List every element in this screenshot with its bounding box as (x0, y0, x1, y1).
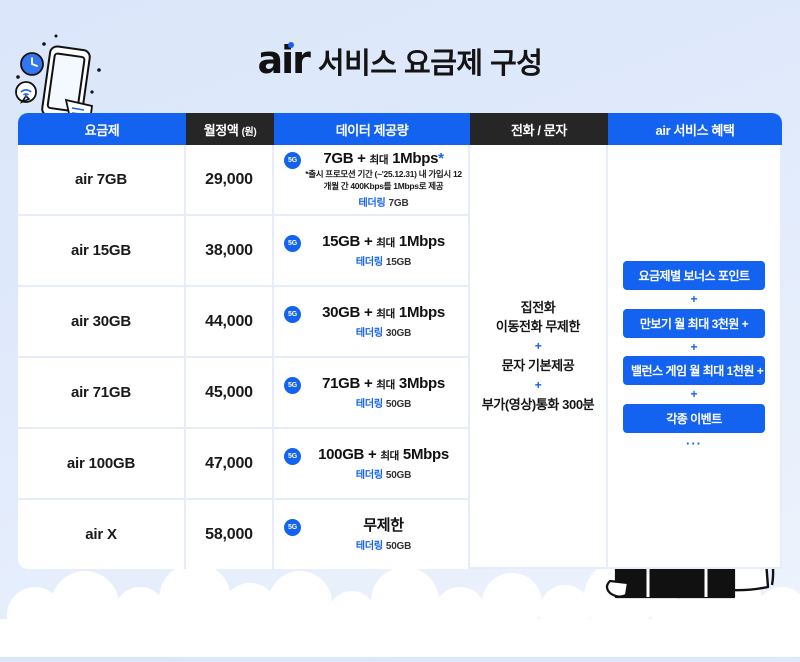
voice-line-3: 문자 기본제공 (471, 356, 605, 376)
column-header-plan: 요금제 (18, 113, 186, 145)
benefit-item-events[interactable]: 각종 이벤트 (623, 404, 765, 433)
data-speed-label: 최대 (376, 379, 395, 391)
data-amount: 7GB (323, 150, 353, 167)
column-header-benefits: air 서비스 혜택 (608, 113, 782, 145)
table-row: air 7GB 29,000 5G 7GB + 최대 1Mbps* *출시 프로… (18, 145, 782, 216)
air-logo-dot (288, 42, 294, 48)
data-speed: 1Mbps (392, 150, 438, 167)
tethering-label: 테더링 (356, 399, 383, 410)
badge-5g-icon: 5G (284, 235, 301, 252)
benefit-item-bonus-point[interactable]: 요금제별 보너스 포인트 (623, 261, 765, 290)
column-header-price-unit: (원) (242, 127, 257, 138)
badge-5g-icon: 5G (284, 448, 301, 465)
badge-5g-icon: 5G (284, 519, 301, 536)
data-speed-label: 최대 (376, 237, 395, 249)
badge-5g-icon: 5G (284, 152, 301, 169)
data-speed-label: 최대 (380, 450, 399, 462)
data-plus: + (364, 233, 372, 250)
tethering-label: 테더링 (356, 328, 383, 339)
benefits-cell: 요금제별 보너스 포인트 + 만보기 월 최대 3천원 + + 밸런스 게임 월… (608, 145, 782, 569)
plan-name: air X (18, 500, 186, 569)
benefit-item-balance-game[interactable]: 밸런스 게임 월 최대 1천원 + (623, 356, 765, 385)
benefit-more-ellipsis: ··· (686, 436, 702, 451)
tethering-value: 50GB (386, 470, 411, 481)
pricing-table: 요금제 월정액 (원) 데이터 제공량 전화 / 문자 air 서비스 혜택 a… (18, 113, 782, 569)
voice-line-1: 집전화 (471, 298, 605, 318)
plan-data: 5G 무제한 테더링50GB (274, 500, 470, 569)
plan-data: 5G 100GB + 최대 5Mbps 테더링50GB (274, 429, 470, 500)
data-speed: 5Mbps (403, 446, 449, 463)
voice-line-2: 이동전화 무제한 (471, 317, 605, 337)
plan-price: 47,000 (186, 429, 274, 500)
data-amount: 15GB (322, 233, 360, 250)
column-header-price-label: 월정액 (204, 123, 239, 138)
data-note: *출시 프로모션 기간 (~'25.12.31) 내 가입시 12개월 간 40… (305, 169, 462, 192)
voice-plus-1: + (471, 337, 605, 356)
plan-data: 5G 30GB + 최대 1Mbps 테더링30GB (274, 287, 470, 358)
air-logo-text: air (258, 38, 309, 82)
data-speed: 3Mbps (399, 375, 445, 392)
data-speed-label: 최대 (370, 154, 389, 166)
data-amount: 무제한 (363, 517, 404, 534)
plan-price: 58,000 (186, 500, 274, 569)
column-header-price: 월정액 (원) (186, 113, 274, 145)
plan-price: 38,000 (186, 216, 274, 287)
benefit-item-pedometer[interactable]: 만보기 월 최대 3천원 + (623, 309, 765, 338)
badge-5g-icon: 5G (284, 377, 301, 394)
plan-name: air 7GB (18, 145, 186, 216)
benefit-plus-1: + (690, 291, 697, 308)
tethering-value: 50GB (386, 399, 411, 410)
plan-data: 5G 7GB + 최대 1Mbps* *출시 프로모션 기간 (~'25.12.… (274, 145, 470, 216)
data-plus: + (368, 446, 376, 463)
plan-price: 44,000 (186, 287, 274, 358)
data-speed-label: 최대 (376, 308, 395, 320)
tethering-label: 테더링 (356, 470, 383, 481)
data-asterisk: * (438, 150, 444, 167)
tethering-label: 테더링 (356, 257, 383, 268)
data-plus: + (364, 375, 372, 392)
badge-5g-icon: 5G (284, 306, 301, 323)
voice-plus-2: + (471, 376, 605, 395)
data-amount: 71GB (322, 375, 360, 392)
plan-name: air 100GB (18, 429, 186, 500)
plan-name: air 30GB (18, 287, 186, 358)
tethering-value: 15GB (386, 257, 411, 268)
data-plus: + (364, 304, 372, 321)
voice-text-cell: 집전화 이동전화 무제한 + 문자 기본제공 + 부가(영상)통화 300분 (470, 145, 608, 569)
plan-price: 45,000 (186, 358, 274, 429)
plan-data: 5G 15GB + 최대 1Mbps 테더링15GB (274, 216, 470, 287)
plan-name: air 15GB (18, 216, 186, 287)
data-speed: 1Mbps (399, 233, 445, 250)
column-header-voice: 전화 / 문자 (470, 113, 608, 145)
benefit-plus-2: + (690, 339, 697, 356)
tethering-label: 테더링 (359, 198, 386, 209)
air-logo: air (258, 38, 309, 82)
tethering-label: 테더링 (356, 541, 383, 552)
voice-line-4: 부가(영상)통화 300분 (471, 395, 605, 415)
data-speed: 1Mbps (399, 304, 445, 321)
pricing-table-wrapper: 요금제 월정액 (원) 데이터 제공량 전화 / 문자 air 서비스 혜택 a… (18, 113, 782, 569)
table-header-row: 요금제 월정액 (원) 데이터 제공량 전화 / 문자 air 서비스 혜택 (18, 113, 782, 145)
plan-name: air 71GB (18, 358, 186, 429)
page-title-text: 서비스 요금제 구성 (318, 40, 543, 82)
data-amount: 30GB (322, 304, 360, 321)
tethering-value: 7GB (389, 198, 409, 209)
benefit-plus-3: + (690, 386, 697, 403)
plan-data: 5G 71GB + 최대 3Mbps 테더링50GB (274, 358, 470, 429)
data-amount: 100GB (318, 446, 364, 463)
column-header-data: 데이터 제공량 (274, 113, 470, 145)
tethering-value: 50GB (386, 541, 411, 552)
plan-price: 29,000 (186, 145, 274, 216)
tethering-value: 30GB (386, 328, 411, 339)
data-plus: + (357, 150, 365, 167)
